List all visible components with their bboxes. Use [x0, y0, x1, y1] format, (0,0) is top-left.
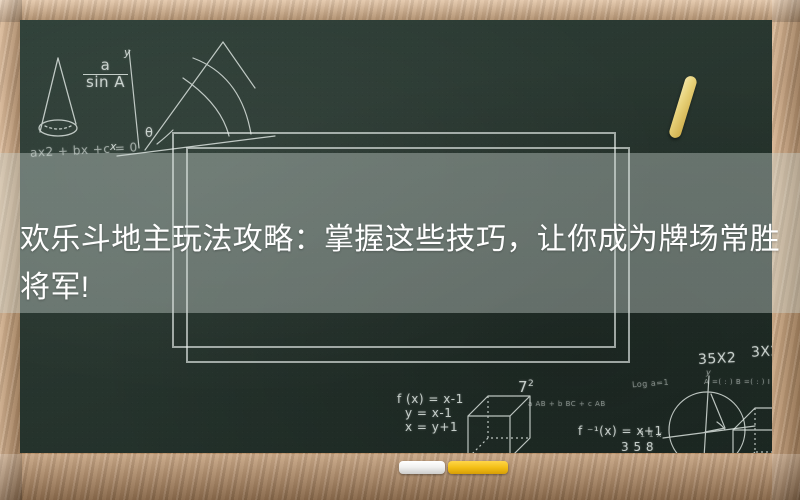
frame-edge-top	[0, 0, 800, 22]
log-a-equals-one: Log a=1	[632, 378, 670, 390]
frame-edge-left	[0, 0, 22, 500]
page-title: 欢乐斗地主玩法攻略：掌握这些技巧，让你成为牌场常胜将军!	[20, 216, 784, 312]
inverse-function: f ⁻¹(x) = x+1	[578, 424, 663, 438]
cube-drawing-right	[725, 400, 772, 453]
mult-3x2: 3X2	[751, 343, 772, 360]
matrix-definitions: A =( : ) B =( : ) I =( : )	[704, 378, 772, 386]
blackboard-frame: a sin A y x θ ax2 + bx +c = 0 f (x) = x-…	[0, 0, 800, 500]
addition-carry: 1 1	[621, 428, 654, 441]
circle-axis-label-x: x	[657, 430, 662, 439]
circle-axis-label-y: y	[706, 368, 711, 377]
addition-problem: 1 1 3 5 8 2 7 9 6 3 7	[621, 428, 654, 453]
law-of-sines-denominator: sin A	[83, 75, 128, 91]
vector-expression: a AB + b BC + c AB	[528, 400, 606, 408]
seven-exponent: 2	[528, 379, 534, 389]
cone-drawing	[28, 40, 108, 160]
quadratic-equation: ax2 + bx +c = 0	[30, 140, 138, 160]
cube-drawing-center	[458, 388, 548, 453]
seven-base: 7	[518, 378, 528, 396]
law-of-sines-numerator: a	[83, 58, 128, 75]
axis-label-y: y	[124, 46, 131, 59]
axis-label-x: x	[110, 140, 117, 153]
law-of-sines-formula: a sin A	[83, 58, 128, 91]
seven-squared: 72	[518, 378, 534, 396]
function-line-1: f (x) = x-1	[397, 392, 464, 406]
function-line-2: y = x-1	[405, 406, 452, 420]
circle-axes-diagram	[655, 370, 765, 453]
angle-theta-label: θ	[145, 126, 153, 141]
chalk-stick-white[interactable]	[399, 461, 445, 474]
chalk-stick-yellow-tray[interactable]	[448, 461, 508, 474]
mult-35x2: 35X2	[698, 350, 737, 368]
chalk-tray	[20, 453, 772, 473]
function-line-3: x = y+1	[405, 420, 458, 434]
addition-addend-1: 3 5 8	[621, 441, 654, 453]
